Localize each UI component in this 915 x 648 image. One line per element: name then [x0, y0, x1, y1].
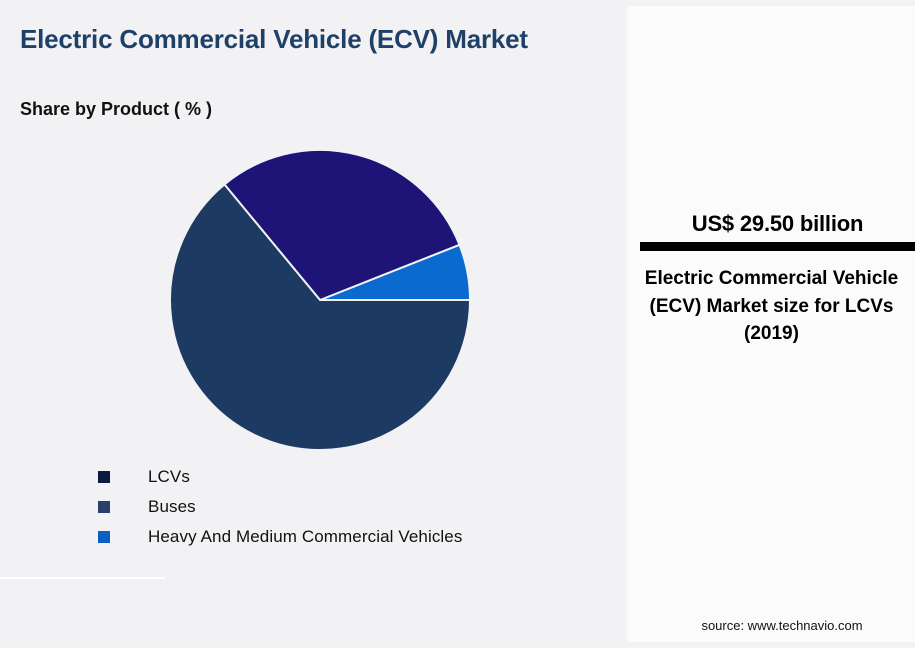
- legend-label-heavy-medium-commercial-vehicles: Heavy And Medium Commercial Vehicles: [148, 527, 462, 547]
- stat-callout: US$ 29.50 billion Electric Commercial Ve…: [640, 211, 915, 348]
- chart-subtitle: Share by Product ( % ): [20, 99, 212, 120]
- source-attribution: source: www.technavio.com: [627, 618, 915, 633]
- chart-page: Electric Commercial Vehicle (ECV) Market…: [0, 0, 915, 648]
- pie-chart-svg: [150, 130, 490, 470]
- stat-value: US$ 29.50 billion: [640, 211, 915, 242]
- stat-divider: [640, 242, 915, 251]
- pie-chart: [150, 130, 490, 470]
- stat-description: Electric Commercial Vehicle (ECV) Market…: [640, 265, 915, 348]
- chart-legend: LCVs Buses Heavy And Medium Commercial V…: [98, 462, 618, 552]
- legend-swatch-buses: [98, 501, 110, 513]
- chart-panel: Electric Commercial Vehicle (ECV) Market…: [0, 0, 627, 648]
- legend-item-lcvs[interactable]: LCVs: [98, 462, 618, 492]
- legend-swatch-heavy-medium-commercial-vehicles: [98, 531, 110, 543]
- legend-label-buses: Buses: [148, 497, 196, 517]
- legend-label-lcvs: LCVs: [148, 467, 190, 487]
- stat-callout-panel: US$ 29.50 billion Electric Commercial Ve…: [627, 6, 915, 642]
- legend-item-heavy-medium-commercial-vehicles[interactable]: Heavy And Medium Commercial Vehicles: [98, 522, 618, 552]
- legend-item-buses[interactable]: Buses: [98, 492, 618, 522]
- footer-divider: [0, 577, 165, 579]
- page-title: Electric Commercial Vehicle (ECV) Market: [20, 24, 590, 54]
- legend-swatch-lcvs: [98, 471, 110, 483]
